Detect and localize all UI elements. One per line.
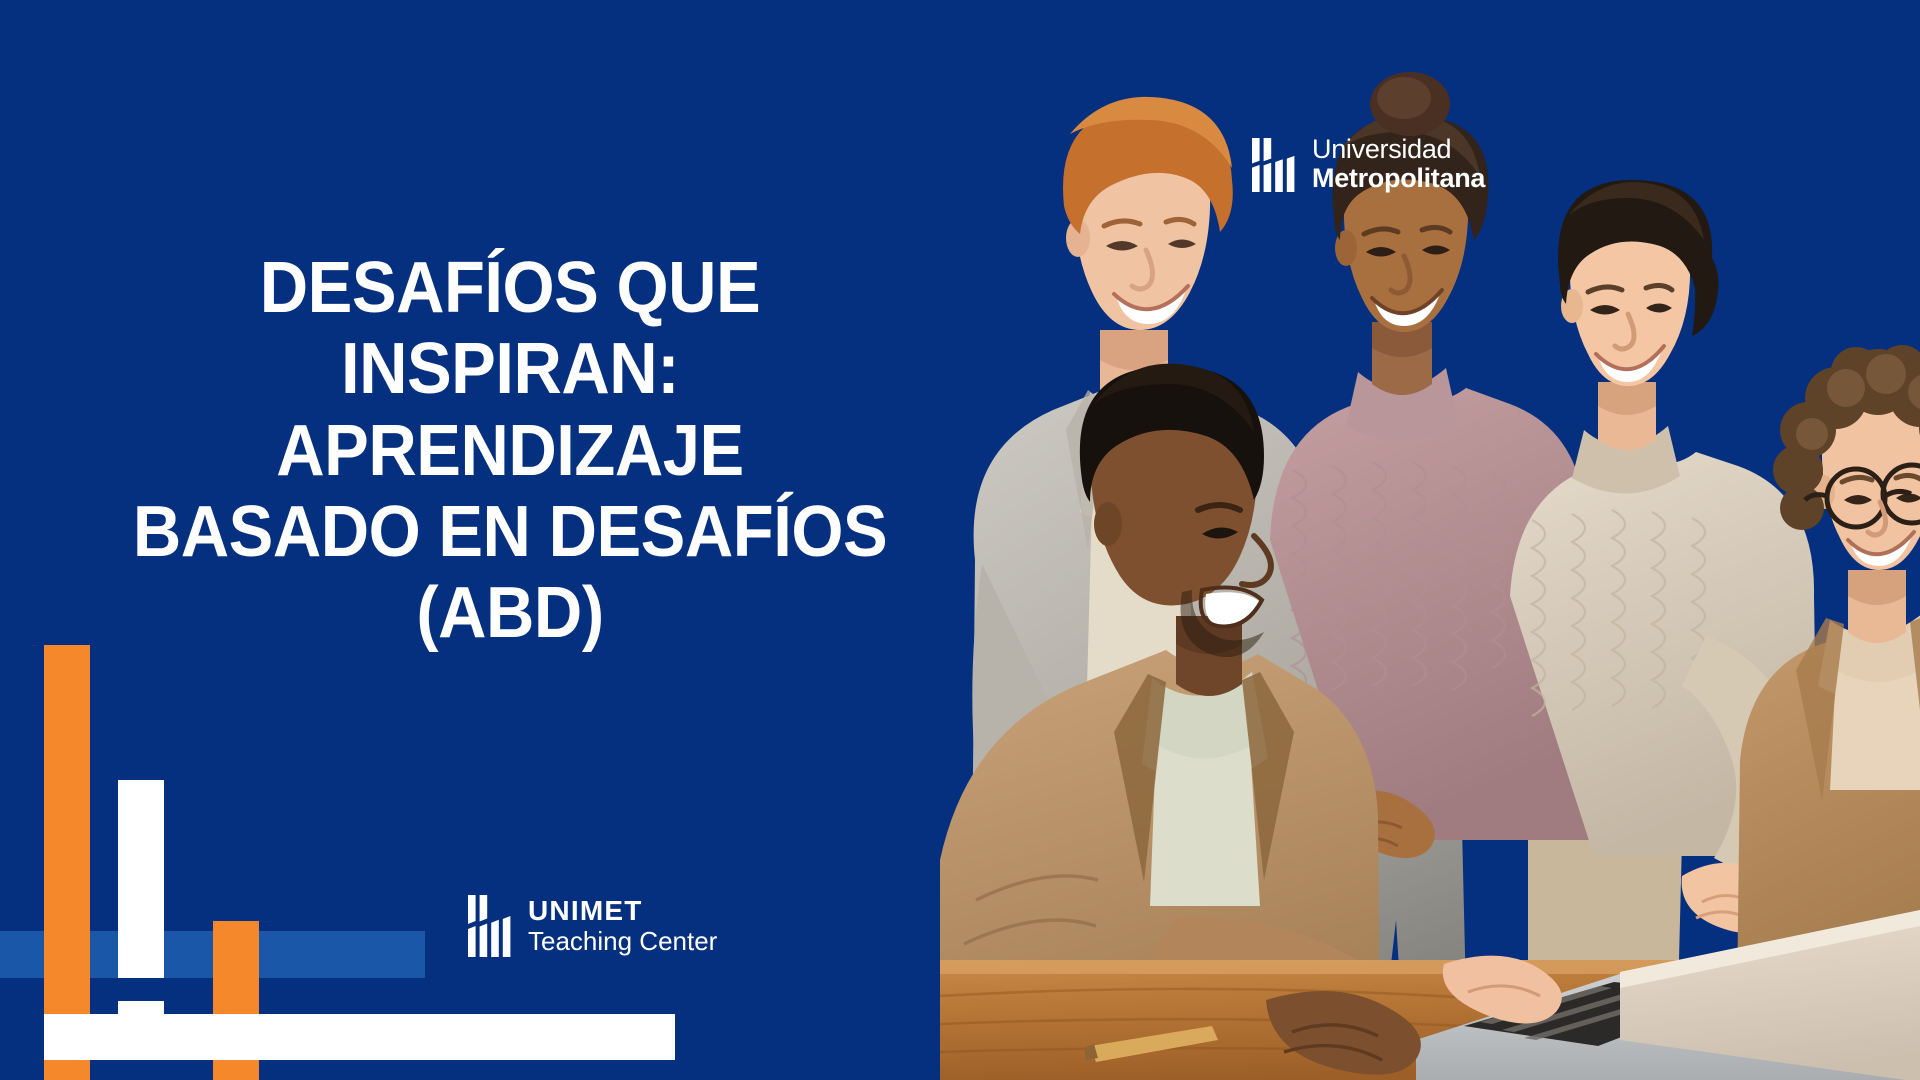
logo-top-text: Universidad Metropolitana [1312, 136, 1485, 192]
universidad-metropolitana-logo: Universidad Metropolitana [1252, 136, 1485, 192]
logo-bottom-line2: Teaching Center [528, 928, 717, 954]
logo-bottom-line1: UNIMET [528, 897, 717, 925]
unimet-bars-mark-icon [1252, 136, 1300, 192]
logo-top-line2: Metropolitana [1312, 165, 1485, 192]
unimet-teaching-center-logo: UNIMET Teaching Center [468, 893, 717, 957]
unimet-bars-mark-icon [468, 893, 516, 957]
white-vertical-bar-bottom-lower [118, 1001, 164, 1015]
white-horizontal-bar-bottom [44, 1014, 675, 1060]
slide-canvas: DESAFÍOS QUE INSPIRAN: APRENDIZAJE BASAD… [0, 0, 1920, 1080]
logo-top-line1: Universidad [1312, 136, 1485, 163]
logo-bottom-text: UNIMET Teaching Center [528, 897, 717, 954]
white-vertical-bar-bottom-upper [118, 780, 164, 978]
page-title: DESAFÍOS QUE INSPIRAN: APRENDIZAJE BASAD… [92, 248, 929, 655]
title-block: DESAFÍOS QUE INSPIRAN: APRENDIZAJE BASAD… [60, 248, 960, 655]
